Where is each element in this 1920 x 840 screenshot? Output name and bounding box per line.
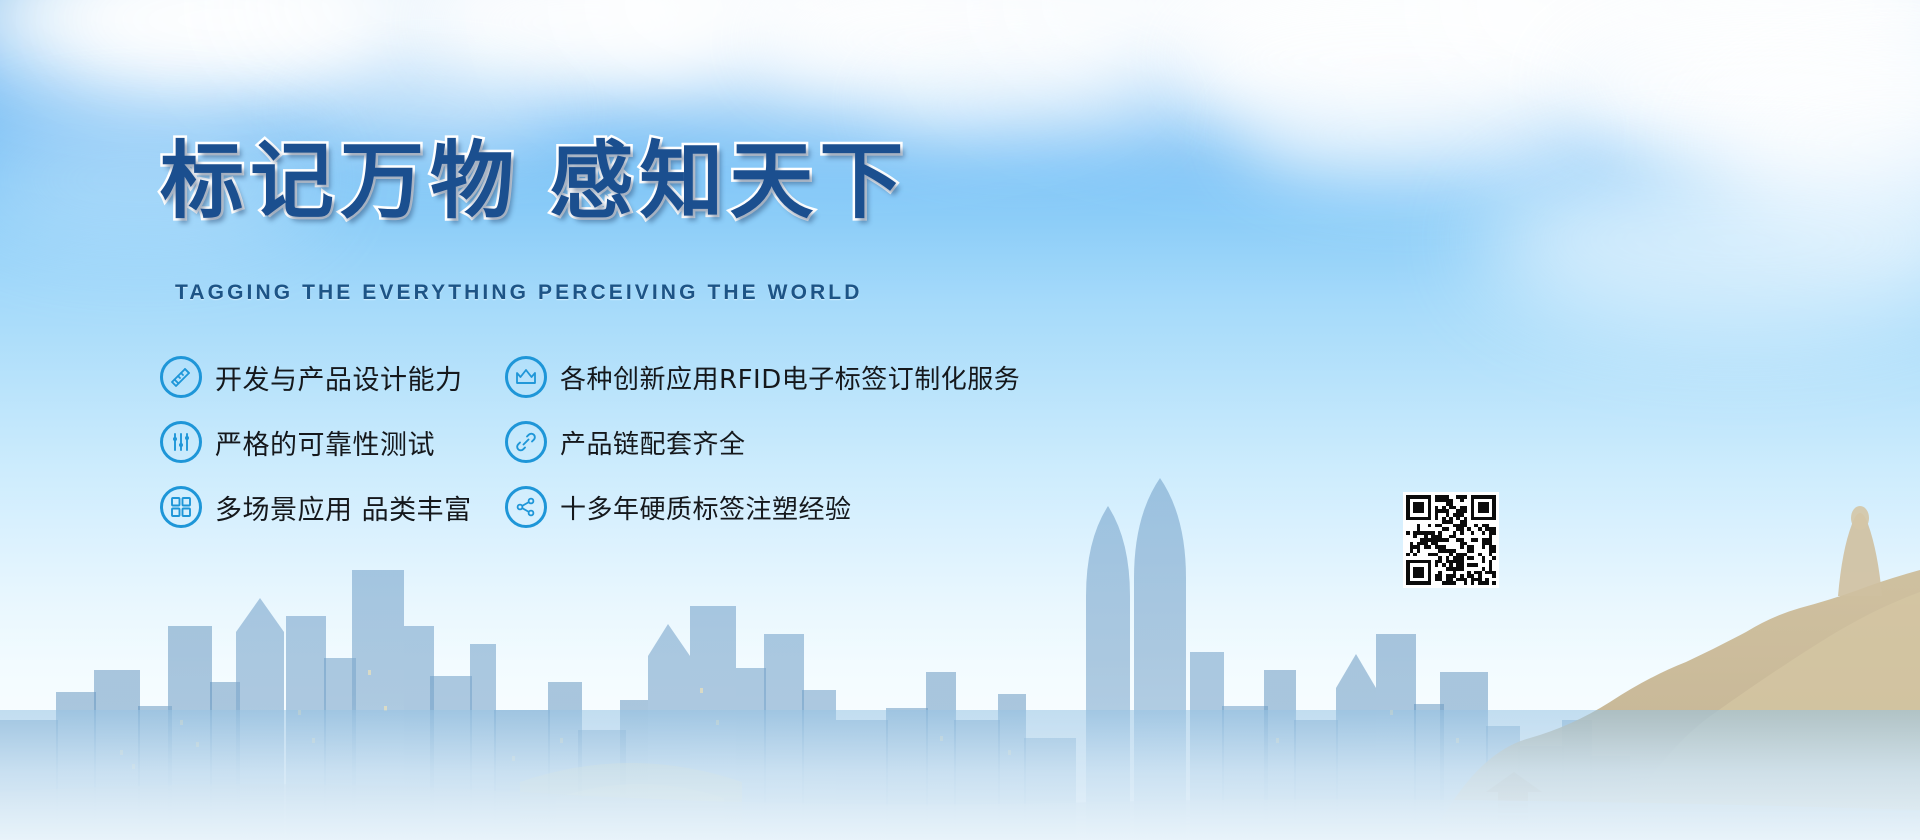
feature-item-reliability[interactable]: 严格的可靠性测试 — [160, 410, 520, 474]
pencil-ruler-icon — [160, 356, 202, 398]
feature-label: 十多年硬质标签注塑经验 — [560, 489, 852, 526]
feature-item-rfid-custom[interactable]: 各种创新应用RFID电子标签订制化服务 — [505, 345, 1045, 409]
share-network-icon — [505, 486, 547, 528]
qr-code-matrix — [1406, 495, 1496, 585]
feature-item-design[interactable]: 开发与产品设计能力 — [160, 345, 520, 409]
feature-label: 多场景应用 品类丰富 — [215, 488, 472, 527]
feature-label: 严格的可靠性测试 — [215, 423, 435, 462]
feature-item-supply-chain[interactable]: 产品链配套齐全 — [505, 410, 1045, 474]
feature-column-right: 各种创新应用RFID电子标签订制化服务 产品链配套齐全 — [505, 345, 1045, 540]
crown-icon — [505, 356, 547, 398]
feature-label: 各种创新应用RFID电子标签订制化服务 — [560, 359, 1020, 396]
chain-link-icon — [505, 421, 547, 463]
qr-code[interactable] — [1403, 492, 1499, 588]
grid-squares-icon — [160, 486, 202, 528]
feature-label: 产品链配套齐全 — [560, 424, 746, 461]
feature-label: 开发与产品设计能力 — [215, 358, 463, 397]
page-title: 标记万物 感知天下 — [160, 136, 909, 227]
feature-item-scenarios[interactable]: 多场景应用 品类丰富 — [160, 475, 520, 539]
feature-item-experience[interactable]: 十多年硬质标签注塑经验 — [505, 475, 1045, 539]
waterfront-haze — [0, 710, 1920, 840]
sliders-icon — [160, 421, 202, 463]
tagline: TAGGING THE EVERYTHING PERCEIVING THE WO… — [175, 281, 863, 305]
feature-column-left: 开发与产品设计能力 严格的可靠性测试 — [160, 345, 520, 540]
promo-banner: 标记万物 感知天下 TAGGING THE EVERYTHING PERCEIV… — [0, 0, 1920, 840]
